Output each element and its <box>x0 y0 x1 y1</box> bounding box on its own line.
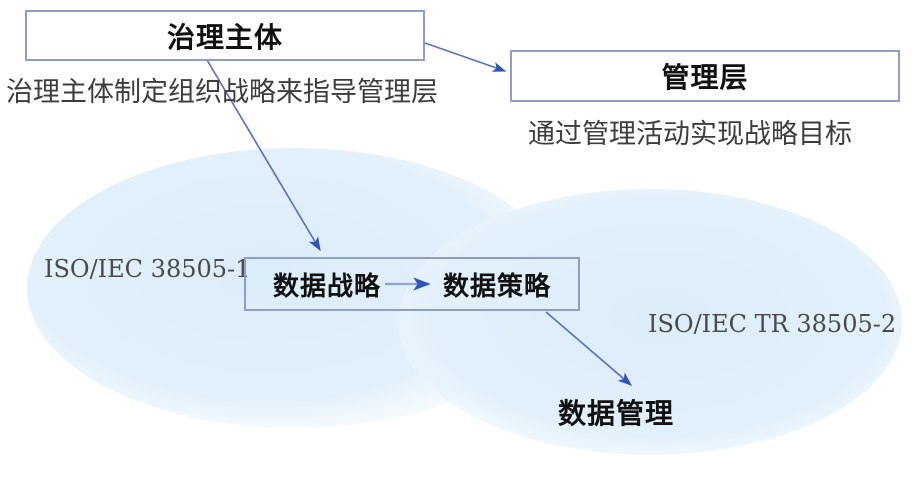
node-data-strategy-group[interactable]: 数据战略 数据策略 <box>244 257 580 311</box>
diagram-canvas: 治理主体 治理主体制定组织战略来指导管理层 管理层 通过管理活动实现战略目标 I… <box>0 0 919 484</box>
node-data-management[interactable]: 数据管理 <box>558 392 674 432</box>
node-management-layer-label: 管理层 <box>661 56 748 96</box>
node-governance-body-label: 治理主体 <box>167 16 283 56</box>
node-management-layer[interactable]: 管理层 <box>510 50 900 102</box>
zone-label-iso-tr-38505-2: ISO/IEC TR 38505-2 <box>648 310 896 338</box>
node-governance-body[interactable]: 治理主体 <box>25 10 425 61</box>
arrow-governance-to-management <box>425 43 505 71</box>
node-data-policy-label: 数据策略 <box>443 266 551 303</box>
caption-management-layer: 通过管理活动实现战略目标 <box>528 112 852 151</box>
arrow-data-policy-to-data-management <box>546 312 631 385</box>
caption-governance-body: 治理主体制定组织战略来指导管理层 <box>6 70 438 109</box>
node-data-strategy-label: 数据战略 <box>273 266 381 303</box>
arrow-head-icon <box>381 274 443 294</box>
zone-label-iso-38505-1: ISO/IEC 38505-1 <box>44 255 250 283</box>
